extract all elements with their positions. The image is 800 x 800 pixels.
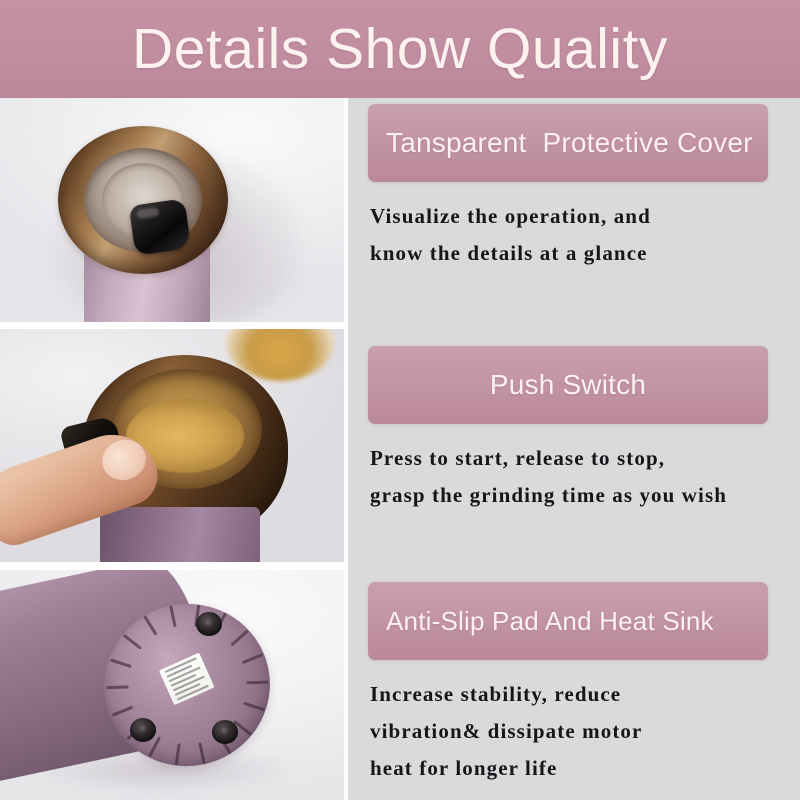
- heat-sink-vent: [169, 605, 177, 627]
- feature-text-panel: Tansparent Protective Cover Visualize th…: [348, 98, 800, 800]
- feature-body-line: Press to start, release to stop,: [370, 440, 780, 477]
- feature-body-line: Visualize the operation, and: [370, 198, 780, 235]
- heat-sink-vent: [246, 681, 268, 685]
- feature-heading-pill: Anti-Slip Pad And Heat Sink: [368, 582, 768, 660]
- heat-sink-vent: [174, 743, 180, 765]
- spec-label: [159, 653, 215, 706]
- heat-sink-vent: [198, 742, 206, 764]
- feature-body-line: vibration& dissipate motor: [370, 713, 780, 750]
- heat-sink-vent: [106, 686, 128, 690]
- feature-body-line: heat for longer life: [370, 750, 780, 787]
- heat-sink-vent: [122, 634, 141, 650]
- feature-body-line: grasp the grinding time as you wish: [370, 477, 780, 514]
- feature-body: Press to start, release to stop, grasp t…: [368, 440, 780, 514]
- feature-body-line: Increase stability, reduce: [370, 676, 780, 713]
- anti-slip-foot: [212, 720, 238, 744]
- feature-heading-label: Push Switch: [490, 371, 646, 399]
- feature-block-transparent-cover: Tansparent Protective Cover Visualize th…: [368, 104, 780, 272]
- heat-sink-vent: [241, 653, 263, 664]
- heat-sink-vent: [110, 659, 132, 669]
- heat-sink-vent: [230, 630, 248, 647]
- grinder-body: [100, 507, 260, 562]
- feature-body: Visualize the operation, and know the de…: [368, 198, 780, 272]
- photo-grinder-top-view-transparent-cover: [0, 98, 344, 322]
- infographic-page: Details Show Quality: [0, 0, 800, 800]
- feature-body: Increase stability, reduce vibration& di…: [368, 676, 780, 787]
- heat-sink-vent: [243, 702, 265, 712]
- feature-block-push-switch: Push Switch Press to start, release to s…: [368, 346, 780, 514]
- product-photo-column: [0, 98, 344, 800]
- feature-block-anti-slip-pad: Anti-Slip Pad And Heat Sink Increase sta…: [368, 582, 780, 787]
- feature-heading-pill: Tansparent Protective Cover: [368, 104, 768, 182]
- heat-sink-vent: [143, 616, 157, 636]
- feature-body-line: know the details at a glance: [370, 235, 780, 272]
- header-banner: Details Show Quality: [0, 0, 800, 98]
- photo-grinder-bottom-heat-sink: [0, 570, 344, 800]
- anti-slip-foot: [130, 718, 156, 742]
- feature-heading-label: Tansparent Protective Cover: [386, 129, 753, 157]
- photo-finger-pressing-push-switch: [0, 329, 344, 562]
- page-title: Details Show Quality: [132, 21, 668, 78]
- feature-heading-pill: Push Switch: [368, 346, 768, 424]
- anti-slip-foot: [196, 612, 222, 636]
- heat-sink-vent: [111, 706, 133, 717]
- feature-heading-label: Anti-Slip Pad And Heat Sink: [386, 608, 714, 634]
